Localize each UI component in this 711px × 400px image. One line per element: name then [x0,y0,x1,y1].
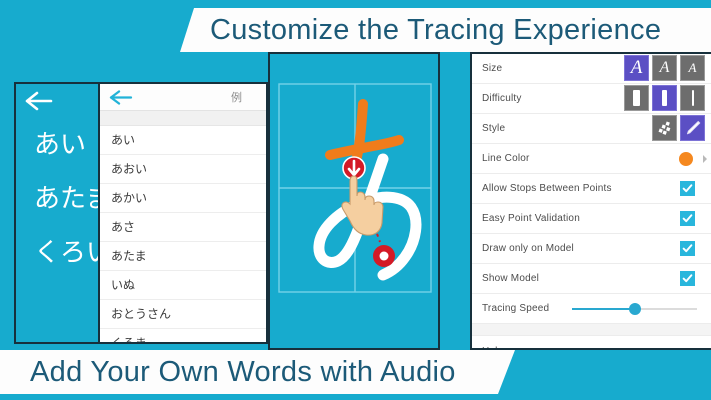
setting-row-style: Style [472,114,711,144]
setting-label: Style [472,123,505,134]
top-banner-text: Customize the Tracing Experience [180,14,661,47]
setting-row-difficulty: Difficulty [472,84,711,114]
checkbox-checked-icon[interactable] [680,181,695,196]
word-list-header: 例 [100,84,266,111]
letter-a-icon: A [689,60,697,76]
color-swatch-icon[interactable] [679,152,693,166]
letter-a-icon: A [660,59,670,77]
top-banner: Customize the Tracing Experience [180,8,711,52]
settings-dialog: Size A A A Difficulty [470,52,711,350]
style-pencil-button[interactable] [680,115,705,141]
tracing-canvas-panel[interactable] [268,52,440,350]
difficulty-medium-button[interactable] [652,85,677,111]
setting-row-allow-stops[interactable]: Allow Stops Between Points [472,174,711,204]
setting-label: Easy Point Validation [472,213,580,224]
difficulty-thick-button[interactable] [624,85,649,111]
dots-icon [656,120,673,137]
handwriting-word-list: あい あたま くろい [16,118,98,280]
draw-only-on-model-control[interactable] [680,234,705,263]
setting-label: Draw only on Model [472,243,574,254]
slider-thumb[interactable] [629,303,641,315]
setting-label: Allow Stops Between Points [472,183,612,194]
end-point-marker [373,245,395,267]
list-item[interactable]: くるま [100,329,266,344]
setting-label: Line Color [472,153,530,164]
checkbox-checked-icon[interactable] [680,271,695,286]
list-item[interactable]: あい [100,126,266,155]
setting-label: Size [472,63,502,74]
bottom-banner-text: Add Your Own Words with Audio [0,356,456,389]
bar-thin-icon [692,90,694,106]
allow-stops-control[interactable] [680,174,705,203]
setting-label: Difficulty [472,93,522,104]
setting-row-tracing-speed[interactable]: Tracing Speed [472,294,711,324]
bar-medium-icon [662,90,667,106]
checkbox-checked-icon[interactable] [680,211,695,226]
style-dots-button[interactable] [652,115,677,141]
setting-row-size: Size A A A [472,54,711,84]
setting-row-line-color[interactable]: Line Color [472,144,711,174]
bar-thick-icon [633,90,640,106]
back-arrow-icon[interactable] [108,89,134,106]
show-model-control[interactable] [680,264,705,293]
size-small-button[interactable]: A [680,55,705,81]
back-arrow-icon[interactable] [24,90,54,112]
bottom-banner: Add Your Own Words with Audio [0,350,515,394]
style-button-group [652,115,705,141]
setting-row-draw-only-on-model[interactable]: Draw only on Model [472,234,711,264]
tracing-speed-control[interactable] [572,294,705,323]
word-list-title: 例 [231,89,242,105]
setting-row-show-model[interactable]: Show Model [472,264,711,294]
chevron-right-icon [703,155,707,163]
size-button-group: A A A [624,55,705,81]
list-item[interactable]: あかい [100,184,266,213]
list-item[interactable]: あたま [100,242,266,271]
list-item[interactable]: くろい [16,226,98,280]
checkbox-checked-icon[interactable] [680,241,695,256]
size-medium-button[interactable]: A [652,55,677,81]
difficulty-button-group [624,85,705,111]
list-item[interactable]: いぬ [100,271,266,300]
setting-label: Tracing Speed [472,303,549,314]
list-item[interactable]: おとうさん [100,300,266,329]
list-item[interactable]: あおい [100,155,266,184]
setting-row-help[interactable]: Help [472,336,711,350]
word-list-panel: 例 あい あおい あかい あさ あたま いぬ おとうさん くるま [98,82,268,344]
size-large-button[interactable]: A [624,55,649,81]
list-item[interactable]: あたま [16,172,98,226]
line-color-control[interactable] [679,144,705,173]
tracing-speed-slider[interactable] [572,301,697,317]
easy-point-validation-control[interactable] [680,204,705,233]
setting-row-easy-point-validation[interactable]: Easy Point Validation [472,204,711,234]
pencil-icon [684,119,702,137]
letter-a-icon: A [631,57,643,79]
list-item[interactable]: あい [16,118,98,172]
app-screenshot: あい あたま くろい 例 あい あおい あかい あさ あたま いぬ おとうさん … [0,0,711,400]
settings-section-divider [472,324,711,336]
word-list-subbar [100,111,266,126]
slider-fill [572,308,635,310]
difficulty-thin-button[interactable] [680,85,705,111]
background-strip [440,52,470,350]
handwriting-words-panel: あい あたま くろい [14,82,100,344]
tracing-canvas[interactable] [270,54,438,348]
list-item[interactable]: あさ [100,213,266,242]
setting-label: Help [472,346,503,351]
setting-label: Show Model [472,273,539,284]
